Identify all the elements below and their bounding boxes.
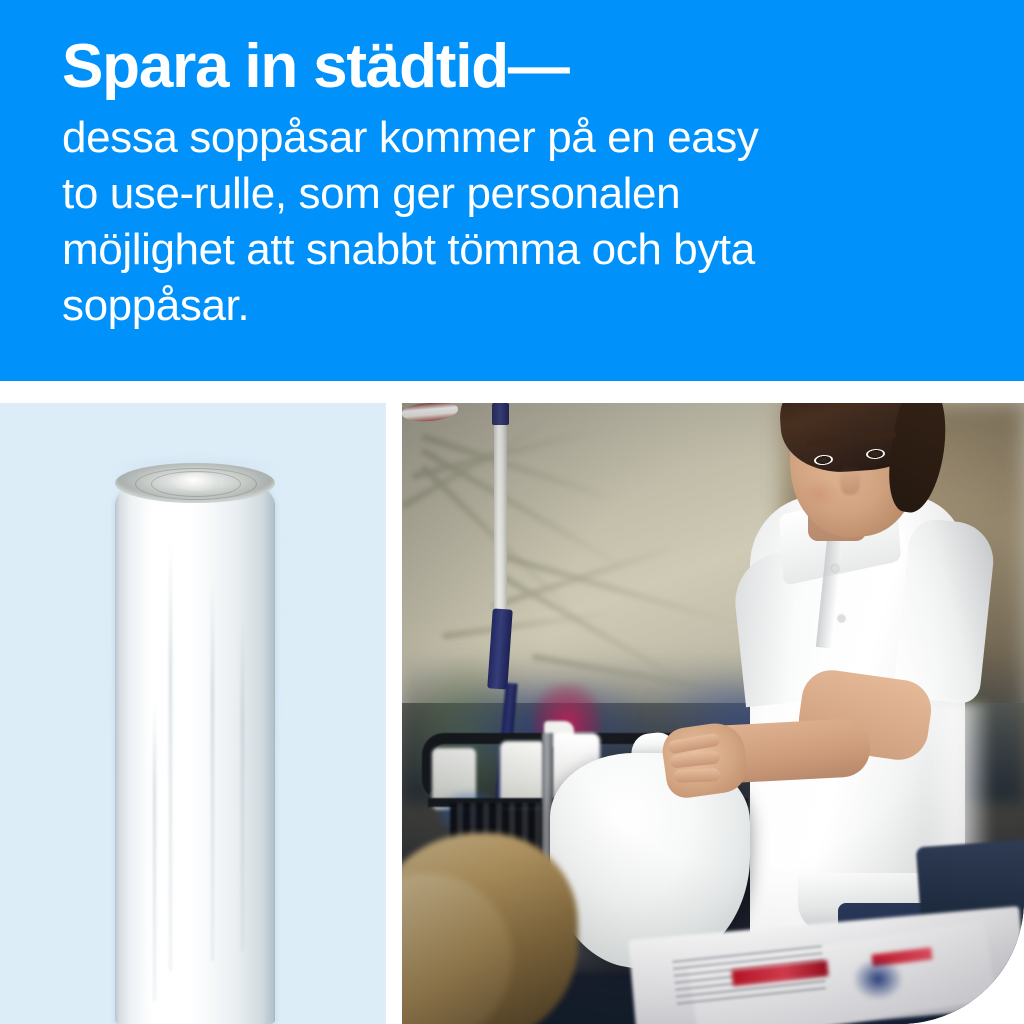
product-photo	[0, 403, 386, 1024]
roll-top-coil	[115, 463, 275, 503]
promo-page: Spara in städtid— dessa soppåsar kommer …	[0, 0, 1024, 1024]
subcopy-paragraph: dessa soppåsar kommer på en easy to use-…	[62, 110, 964, 334]
image-band	[0, 403, 1024, 1024]
roll-crease	[241, 621, 244, 951]
bag-roll	[115, 471, 275, 1024]
nose	[840, 465, 860, 495]
mop-handle	[494, 403, 507, 628]
subcopy-line-2: to use-rulle, som ger personalen	[62, 166, 964, 222]
mop-handle-cap	[492, 403, 509, 425]
subcopy-line-3: möjlighet att snabbt tömma och byta	[62, 222, 964, 278]
roll-crease	[153, 701, 156, 1001]
roll-core	[172, 473, 220, 491]
roll-crease	[211, 581, 214, 961]
page-title: Spara in städtid—	[62, 30, 964, 104]
subcopy-line-4: soppåsar.	[62, 278, 964, 334]
lifestyle-photo	[402, 403, 1024, 1024]
cheek	[802, 481, 836, 507]
polo-button	[832, 565, 839, 572]
roll-sheen	[141, 511, 171, 1011]
subcopy-line-1: dessa soppåsar kommer på en easy	[62, 110, 964, 166]
finger	[674, 768, 720, 783]
headline-banner: Spara in städtid— dessa soppåsar kommer …	[0, 0, 1024, 381]
paper-blue-accent	[854, 959, 902, 999]
polo-button	[838, 615, 845, 622]
roll-crease	[169, 541, 172, 971]
